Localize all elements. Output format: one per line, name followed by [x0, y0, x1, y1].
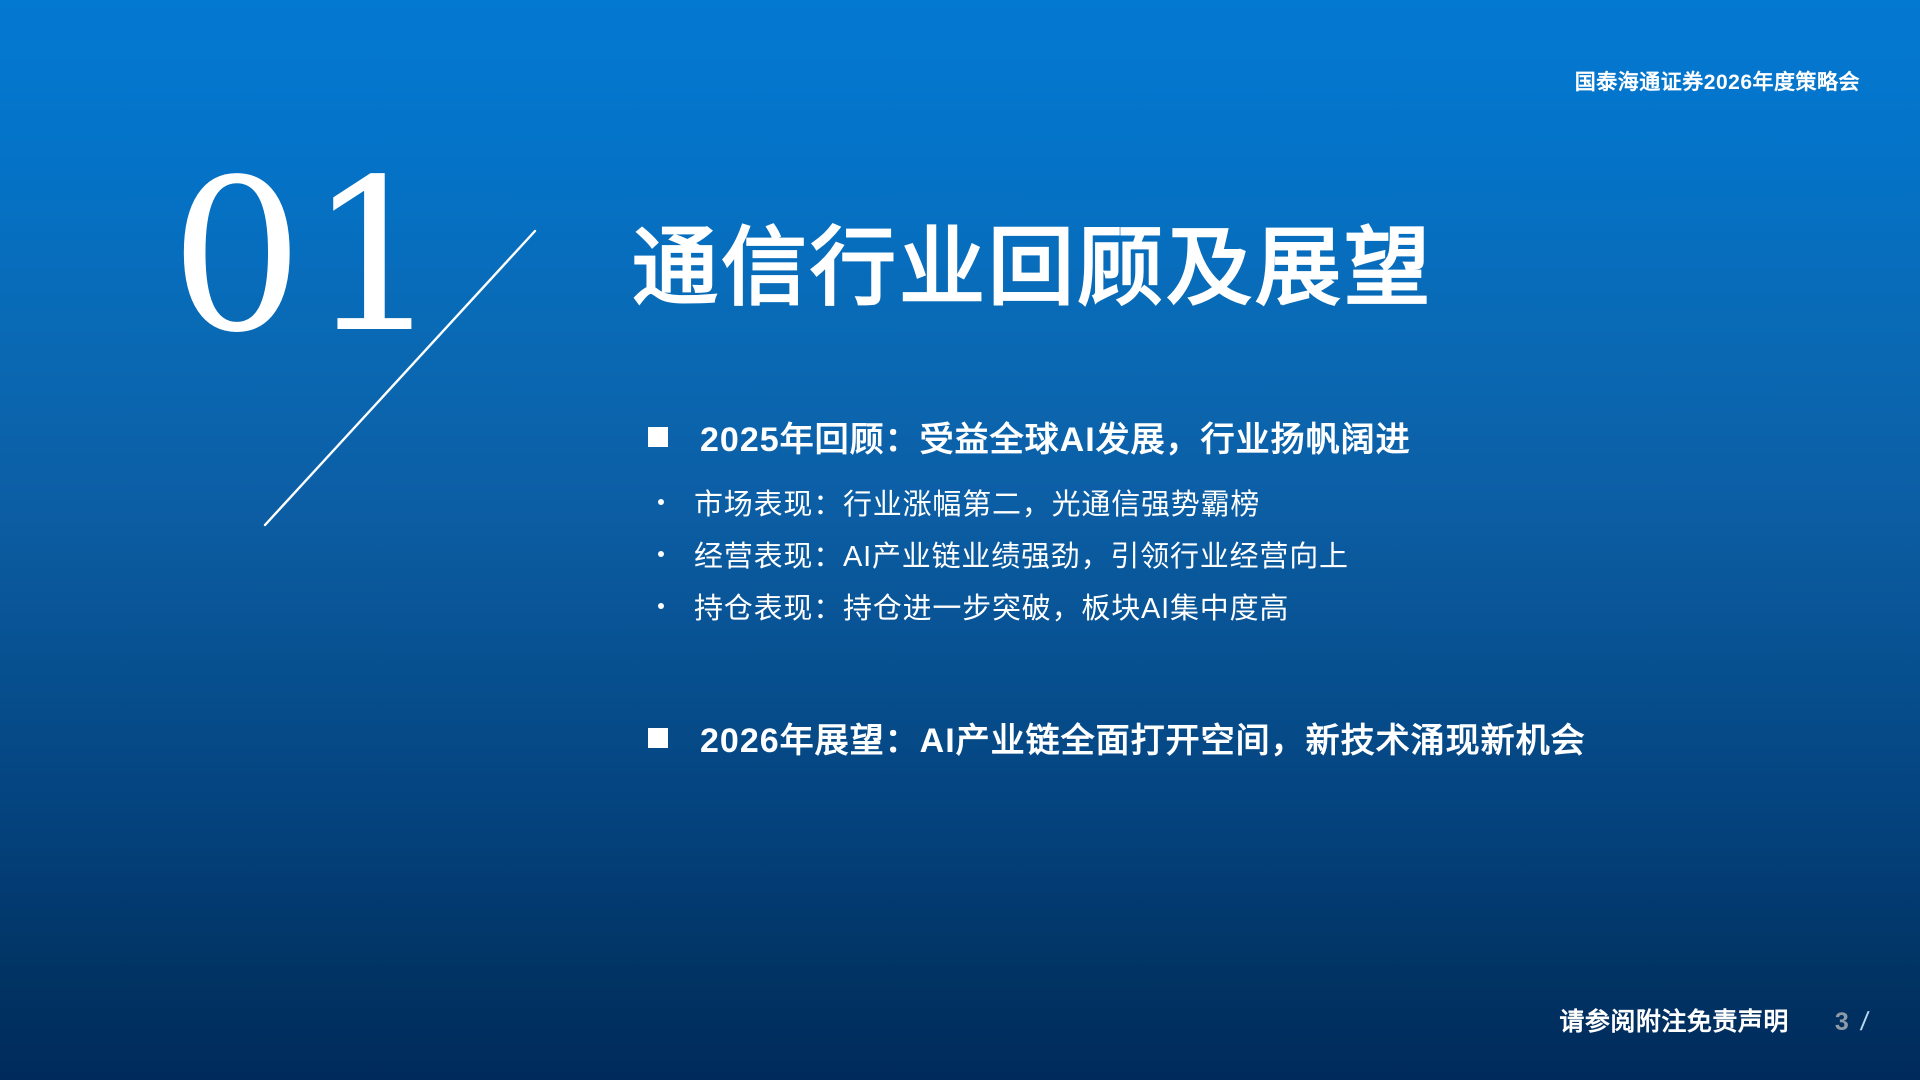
sub-bullet-holdings-performance: 持仓表现：持仓进一步突破，板块AI集中度高 — [648, 585, 1848, 627]
event-header-label: 国泰海通证券2026年度策略会 — [1575, 66, 1860, 96]
sub-bullet-group-2025: 市场表现：行业涨幅第二，光通信强势霸榜 经营表现：AI产业链业绩强劲，引领行业经… — [648, 481, 1848, 627]
square-bullet-icon — [648, 728, 668, 748]
sub-bullet-market-performance: 市场表现：行业涨幅第二，光通信强势霸榜 — [648, 481, 1848, 523]
main-bullet-label: 2026年展望：AI产业链全面打开空间，新技术涌现新机会 — [700, 713, 1586, 762]
sub-bullet-label: 持仓表现：持仓进一步突破，板块AI集中度高 — [694, 585, 1289, 627]
bullet-spacer — [648, 637, 1848, 713]
square-bullet-icon — [648, 427, 668, 447]
slide-footer: 请参阅附注免责声明 3 / — [1559, 1002, 1868, 1038]
dot-bullet-icon — [658, 603, 664, 609]
page-separator-icon: / — [1859, 1006, 1871, 1037]
dot-bullet-icon — [658, 551, 664, 557]
disclaimer-note: 请参阅附注免责声明 — [1559, 1002, 1789, 1038]
page-title: 通信行业回顾及展望 — [632, 222, 1433, 315]
main-bullet-2025-review: 2025年回顾：受益全球AI发展，行业扬帆阔进 — [648, 412, 1848, 461]
sub-bullet-operating-performance: 经营表现：AI产业链业绩强劲，引领行业经营向上 — [648, 533, 1848, 575]
dot-bullet-icon — [658, 499, 664, 505]
main-bullet-label: 2025年回顾：受益全球AI发展，行业扬帆阔进 — [700, 412, 1411, 461]
sub-bullet-label: 经营表现：AI产业链业绩强劲，引领行业经营向上 — [694, 533, 1349, 575]
page-number: 3 — [1835, 1008, 1849, 1037]
bullet-list: 2025年回顾：受益全球AI发展，行业扬帆阔进 市场表现：行业涨幅第二，光通信强… — [648, 412, 1848, 776]
sub-bullet-label: 市场表现：行业涨幅第二，光通信强势霸榜 — [694, 481, 1260, 523]
slide-canvas: 国泰海通证券2026年度策略会 01 通信行业回顾及展望 2025年回顾：受益全… — [0, 0, 1920, 1080]
section-number: 01 — [170, 152, 445, 362]
main-bullet-2026-outlook: 2026年展望：AI产业链全面打开空间，新技术涌现新机会 — [648, 713, 1848, 762]
